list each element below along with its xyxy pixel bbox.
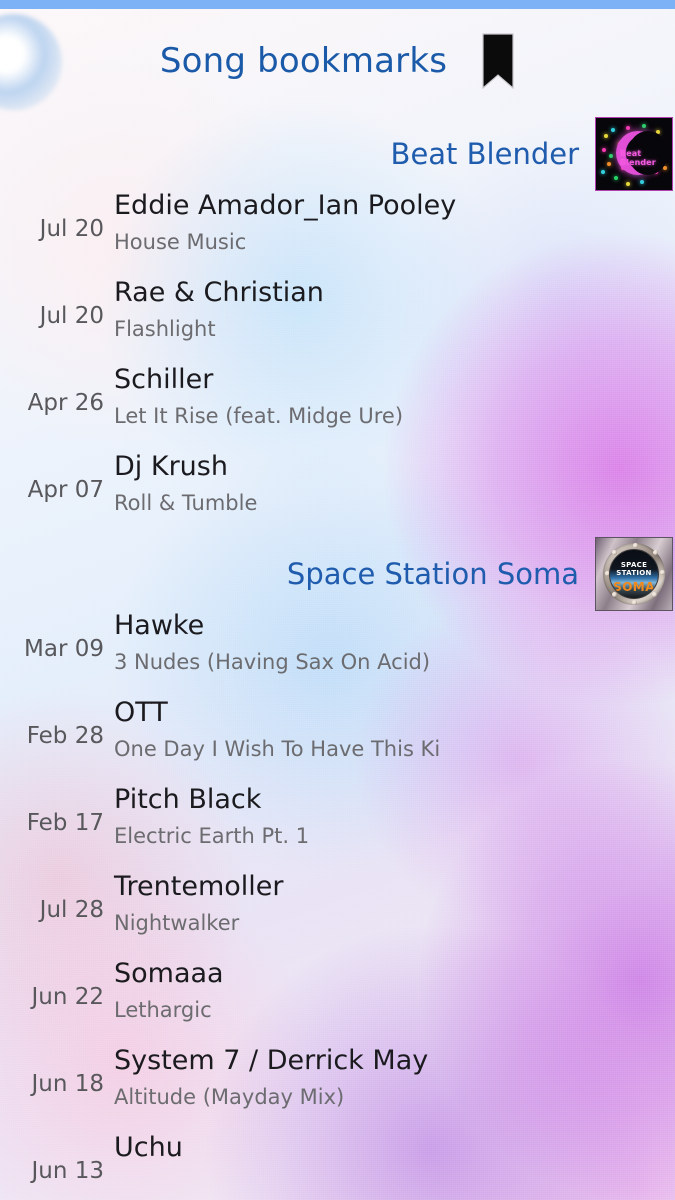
artwork-dot xyxy=(602,148,606,152)
artwork-label: Beat Blender xyxy=(620,149,672,167)
artwork-dot xyxy=(614,176,618,180)
song-row[interactable]: Jul 28TrentemollerNightwalker xyxy=(0,871,675,955)
song-row[interactable]: Jun 13Uchu xyxy=(0,1132,675,1200)
song-row[interactable]: Feb 17Pitch BlackElectric Earth Pt. 1 xyxy=(0,784,675,868)
song-row[interactable]: Apr 07Dj KrushRoll & Tumble xyxy=(0,451,675,535)
porthole-bolt xyxy=(653,550,658,555)
song-date: Apr 26 xyxy=(0,390,104,416)
song-subtitle: Altitude (Mayday Mix) xyxy=(114,1085,344,1109)
song-subtitle: House Music xyxy=(114,230,246,254)
porthole-bolt xyxy=(612,550,617,555)
bookmark-icon[interactable] xyxy=(481,33,515,89)
song-subtitle: Let It Rise (feat. Midge Ure) xyxy=(114,404,403,428)
song-date: Jun 22 xyxy=(0,984,104,1010)
artwork-dot xyxy=(604,134,608,138)
status-bar xyxy=(0,0,675,9)
song-date: Jun 13 xyxy=(0,1158,104,1184)
song-row[interactable]: Mar 09Hawke3 Nudes (Having Sax On Acid) xyxy=(0,610,675,694)
artwork-dot xyxy=(601,170,605,174)
song-subtitle: Electric Earth Pt. 1 xyxy=(114,824,309,848)
artwork-dot xyxy=(640,180,644,184)
station-name: Beat Blender xyxy=(391,137,579,171)
song-title: Rae & Christian xyxy=(114,277,324,308)
song-subtitle: Roll & Tumble xyxy=(114,491,257,515)
song-date: Jul 28 xyxy=(0,897,104,923)
page-header: Song bookmarks xyxy=(0,26,675,96)
song-title: Trentemoller xyxy=(114,871,284,902)
song-title: Somaaa xyxy=(114,958,224,989)
artwork-dot xyxy=(609,154,613,158)
song-date: Mar 09 xyxy=(0,636,104,662)
porthole-bolt xyxy=(633,543,638,548)
song-date: Feb 28 xyxy=(0,723,104,749)
artwork-dot xyxy=(626,182,630,186)
song-subtitle: Lethargic xyxy=(114,998,212,1022)
song-title: Eddie Amador_Ian Pooley xyxy=(114,190,456,221)
song-date: Jul 20 xyxy=(0,303,104,329)
song-title: Dj Krush xyxy=(114,451,228,482)
station-artwork-space-station-soma[interactable]: SPACESTATIONSOMA xyxy=(595,537,673,611)
song-title: System 7 / Derrick May xyxy=(114,1045,428,1076)
song-bookmarks-screen: Song bookmarks Beat BlenderBeat BlenderJ… xyxy=(0,0,675,1200)
station-header[interactable]: Beat BlenderBeat Blender xyxy=(0,118,675,190)
artwork-dot xyxy=(611,128,615,132)
song-row[interactable]: Jul 20Rae & ChristianFlashlight xyxy=(0,277,675,361)
artwork-dot xyxy=(626,126,630,130)
artwork-dot xyxy=(607,162,611,166)
song-row[interactable]: Apr 26SchillerLet It Rise (feat. Midge U… xyxy=(0,364,675,448)
porthole-bolt xyxy=(660,570,665,575)
song-subtitle: 3 Nudes (Having Sax On Acid) xyxy=(114,650,430,674)
page-title: Song bookmarks xyxy=(160,41,447,81)
song-title: OTT xyxy=(114,697,168,728)
song-row[interactable]: Feb 28OTTOne Day I Wish To Have This Ki xyxy=(0,697,675,781)
song-date: Feb 17 xyxy=(0,810,104,836)
porthole-glass: SPACESTATIONSOMA xyxy=(609,549,659,599)
station-name: Space Station Soma xyxy=(287,557,579,591)
song-title: Pitch Black xyxy=(114,784,261,815)
station-artwork-beat-blender[interactable]: Beat Blender xyxy=(595,117,673,191)
song-subtitle: Flashlight xyxy=(114,317,216,341)
song-date: Apr 07 xyxy=(0,477,104,503)
artwork-label-secondary: SOMA xyxy=(610,580,658,594)
porthole-bolt xyxy=(632,600,637,605)
song-title: Hawke xyxy=(114,610,204,641)
song-date: Jun 18 xyxy=(0,1071,104,1097)
song-title: Uchu xyxy=(114,1132,183,1163)
song-subtitle: Nightwalker xyxy=(114,911,239,935)
song-subtitle: One Day I Wish To Have This Ki xyxy=(114,737,440,761)
song-row[interactable]: Jun 22SomaaaLethargic xyxy=(0,958,675,1042)
artwork-label-primary: SPACESTATION xyxy=(610,561,658,577)
song-row[interactable]: Jul 20Eddie Amador_Ian PooleyHouse Music xyxy=(0,190,675,274)
song-title: Schiller xyxy=(114,364,213,395)
song-row[interactable]: Jun 18System 7 / Derrick MayAltitude (Ma… xyxy=(0,1045,675,1129)
station-header[interactable]: Space Station SomaSPACESTATIONSOMA xyxy=(0,538,675,610)
song-date: Jul 20 xyxy=(0,216,104,242)
artwork-dot xyxy=(642,124,646,128)
